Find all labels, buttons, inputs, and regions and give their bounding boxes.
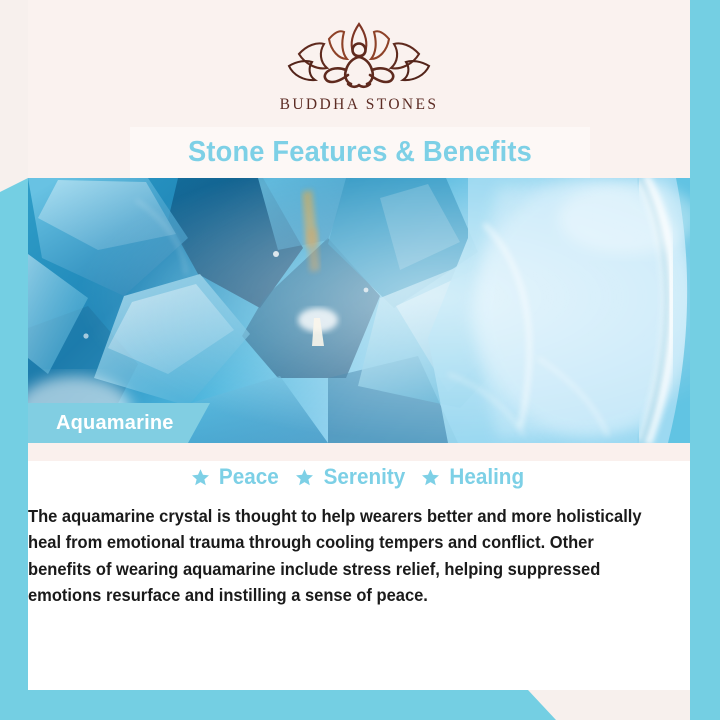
brand-logo: BUDDHA STONES	[28, 18, 690, 114]
frame-band-right	[690, 0, 720, 720]
keyword-item: Healing	[421, 464, 526, 490]
stone-name-banner: Aquamarine	[28, 403, 210, 443]
keyword-item: Peace	[191, 464, 281, 490]
frame-band-left	[0, 178, 28, 720]
header: BUDDHA STONES Stone Features & Benefits	[28, 0, 690, 178]
keyword-label: Serenity	[323, 464, 405, 490]
star-icon	[421, 468, 440, 487]
star-icon	[191, 468, 210, 487]
lotus-meditation-icon	[284, 18, 434, 90]
title-banner: Stone Features & Benefits	[130, 127, 590, 178]
keyword-label: Healing	[450, 464, 525, 490]
keyword-item: Serenity	[295, 464, 408, 490]
page-title: Stone Features & Benefits	[188, 136, 532, 169]
frame-band-bottom	[0, 690, 720, 720]
keyword-row: Peace Serenity Healing	[28, 464, 690, 490]
description-paragraph: The aquamarine crystal is thought to hel…	[28, 503, 660, 608]
stone-name-label: Aquamarine	[56, 412, 174, 435]
keyword-label: Peace	[219, 464, 279, 490]
star-icon	[295, 468, 314, 487]
content-card: Peace Serenity Healing The aquamarine cr…	[28, 461, 690, 690]
page-surface: BUDDHA STONES Stone Features & Benefits	[28, 0, 690, 690]
poster-root: BUDDHA STONES Stone Features & Benefits	[0, 0, 720, 720]
brand-name: BUDDHA STONES	[280, 96, 439, 114]
divider-strip	[28, 443, 690, 461]
